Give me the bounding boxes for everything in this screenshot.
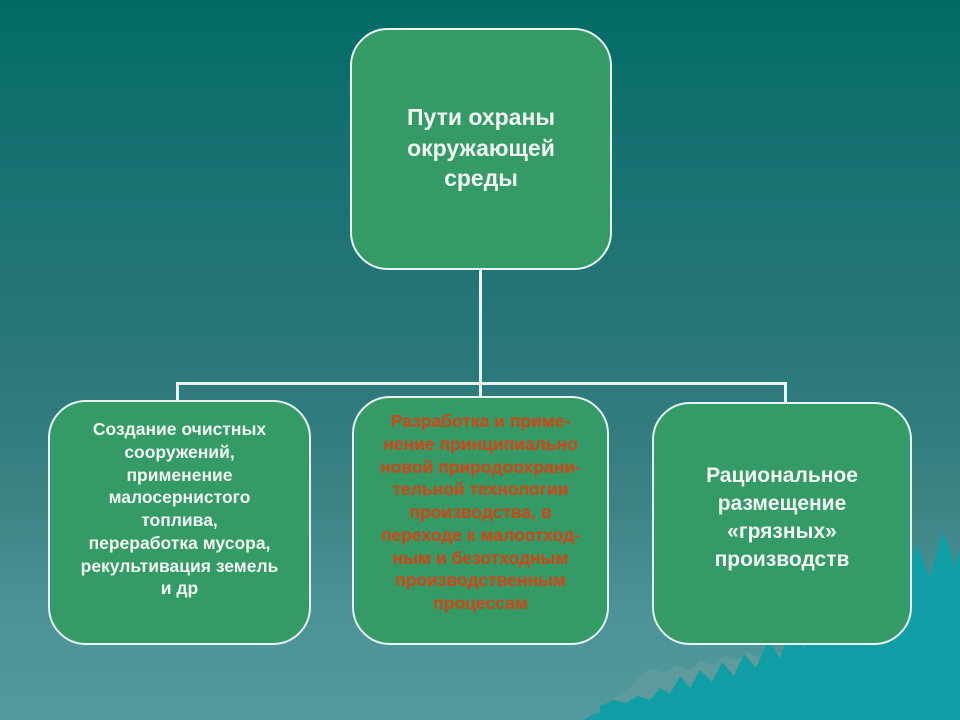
node-root-label: Пути охраны окружающей среды	[352, 102, 610, 194]
node-child-3-label: Рациональное размещение «грязных» произв…	[654, 462, 910, 574]
mountain-small-wedge	[584, 712, 600, 720]
connector-root-vertical	[479, 268, 482, 385]
connector-stub-child-1	[176, 382, 179, 402]
node-child-1: Создание очистных сооружений, применение…	[48, 400, 311, 645]
node-root: Пути охраны окружающей среды	[350, 28, 612, 270]
connector-stub-child-3	[784, 382, 787, 402]
node-child-1-label: Создание очистных сооружений, применение…	[58, 418, 301, 600]
node-child-3: Рациональное размещение «грязных» произв…	[652, 402, 912, 645]
node-child-2: Разработка и приме- нение принципиально …	[352, 396, 609, 645]
slide-canvas: Пути охраны окружающей среды Создание оч…	[0, 0, 960, 720]
node-child-2-label: Разработка и приме- нение принципиально …	[360, 410, 601, 615]
